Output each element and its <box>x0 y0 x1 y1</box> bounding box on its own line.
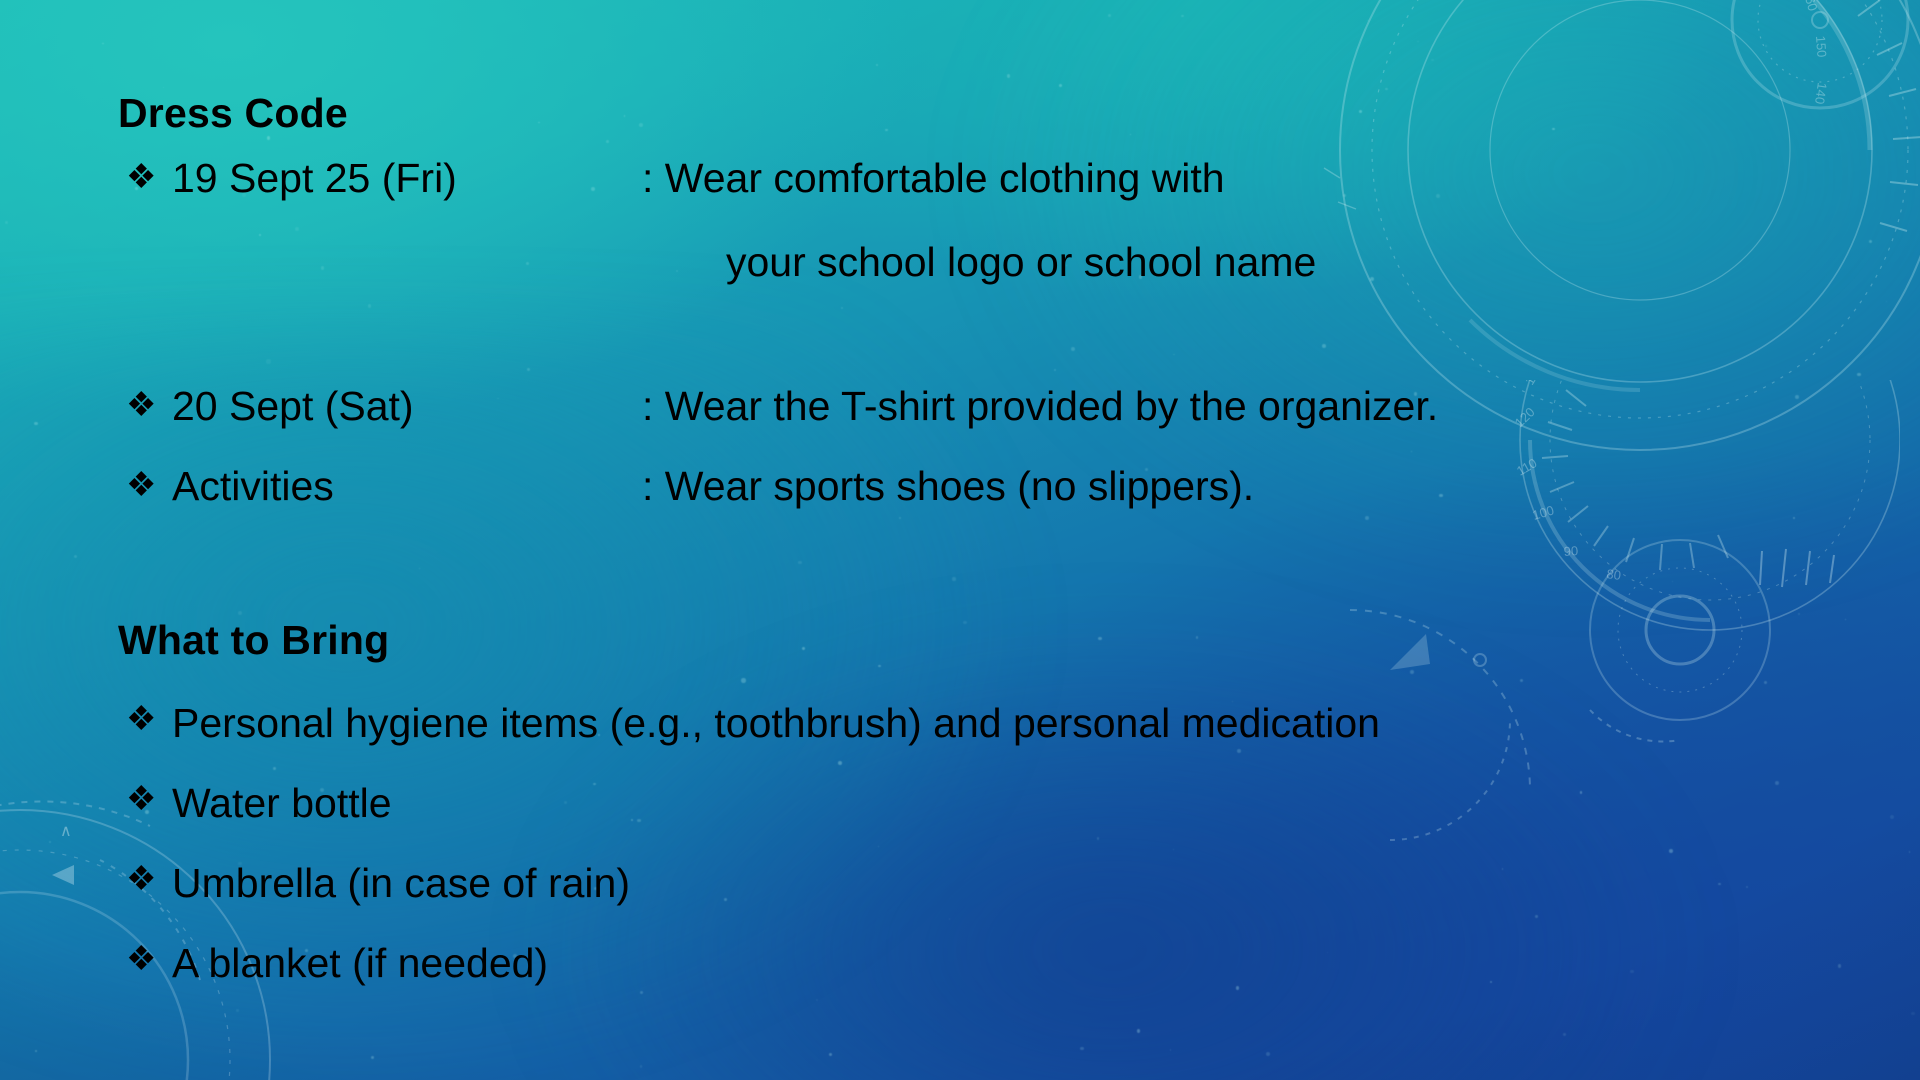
dress-code-entry-3: ❖ Activities : Wear sports shoes (no sli… <box>126 466 1254 507</box>
bullet-diamond-icon: ❖ <box>126 780 172 819</box>
dress-code-desc-2: : Wear the T-shirt provided by the organ… <box>642 386 1438 427</box>
dress-code-entry-2: ❖ 20 Sept (Sat) : Wear the T-shirt provi… <box>126 386 1438 427</box>
dress-code-entry-1: ❖ 19 Sept 25 (Fri) : Wear comfortable cl… <box>126 158 1225 199</box>
dress-code-desc-1-line2: your school logo or school name <box>726 239 1316 286</box>
bullet-diamond-icon: ❖ <box>126 386 172 425</box>
bring-item-2: ❖ Water bottle <box>126 780 392 827</box>
section-heading-dress-code: Dress Code <box>118 90 348 137</box>
bring-item-3: ❖ Umbrella (in case of rain) <box>126 860 630 907</box>
slide-content: Dress Code ❖ 19 Sept 25 (Fri) : Wear com… <box>0 0 1920 1080</box>
section-heading-what-to-bring: What to Bring <box>118 617 389 664</box>
bring-item-4-label: A blanket (if needed) <box>172 940 548 987</box>
bullet-diamond-icon: ❖ <box>126 466 172 505</box>
bullet-diamond-icon: ❖ <box>126 860 172 899</box>
bring-item-1: ❖ Personal hygiene items (e.g., toothbru… <box>126 700 1380 747</box>
dress-code-term-2: 20 Sept (Sat) <box>172 386 642 427</box>
dress-code-term-1: 19 Sept 25 (Fri) <box>172 158 642 199</box>
dress-code-desc-1: : Wear comfortable clothing with <box>642 158 1225 199</box>
bring-item-1-label: Personal hygiene items (e.g., toothbrush… <box>172 700 1380 747</box>
bring-item-4: ❖ A blanket (if needed) <box>126 940 548 987</box>
bring-item-3-label: Umbrella (in case of rain) <box>172 860 630 907</box>
bullet-diamond-icon: ❖ <box>126 158 172 197</box>
dress-code-term-3: Activities <box>172 466 642 507</box>
presentation-slide: 210 200 190 180 170 160 150 140 ^ <box>0 0 1920 1080</box>
dress-code-desc-3: : Wear sports shoes (no slippers). <box>642 466 1254 507</box>
bullet-diamond-icon: ❖ <box>126 700 172 739</box>
bring-item-2-label: Water bottle <box>172 780 392 827</box>
bullet-diamond-icon: ❖ <box>126 940 172 979</box>
